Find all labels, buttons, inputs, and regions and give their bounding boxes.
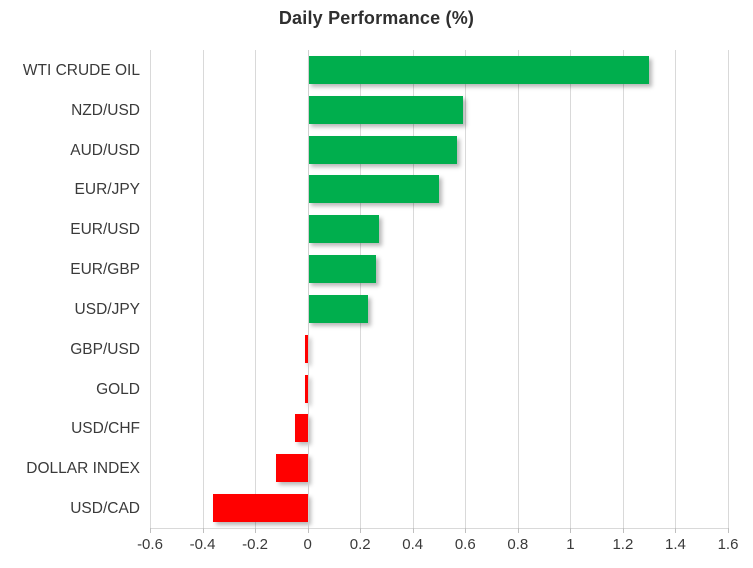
x-tick-mark <box>728 528 729 533</box>
gridline <box>728 50 729 528</box>
x-tick-label: 0.4 <box>383 536 443 553</box>
bar <box>308 295 368 323</box>
x-tick-label: 1.6 <box>698 536 753 553</box>
daily-performance-chart: Daily Performance (%) WTI CRUDE OILNZD/U… <box>0 0 753 568</box>
bar <box>308 136 458 164</box>
y-axis-label: NZD/USD <box>0 102 140 120</box>
bar <box>308 175 439 203</box>
x-tick-mark <box>413 528 414 533</box>
y-axis-label: USD/JPY <box>0 301 140 319</box>
x-tick-label: -0.4 <box>173 536 233 553</box>
gridline <box>255 50 256 528</box>
bar <box>308 96 463 124</box>
x-tick-label: 0 <box>278 536 338 553</box>
x-tick-label: 0.2 <box>330 536 390 553</box>
bar <box>213 494 308 522</box>
y-axis-label: GOLD <box>0 381 140 399</box>
x-tick-label: 1.2 <box>593 536 653 553</box>
x-tick-label: 1.4 <box>645 536 705 553</box>
x-axis-line <box>150 528 728 529</box>
x-tick-label: 0.6 <box>435 536 495 553</box>
y-axis-label: WTI CRUDE OIL <box>0 62 140 80</box>
x-tick-mark <box>675 528 676 533</box>
x-tick-label: -0.6 <box>120 536 180 553</box>
gridline <box>675 50 676 528</box>
gridline <box>518 50 519 528</box>
gridline <box>465 50 466 528</box>
bar <box>308 56 650 84</box>
x-tick-mark <box>465 528 466 533</box>
chart-title: Daily Performance (%) <box>0 8 753 29</box>
y-axis-label: AUD/USD <box>0 142 140 160</box>
y-axis-label: GBP/USD <box>0 341 140 359</box>
zero-gridline <box>308 50 309 528</box>
plot-area <box>150 50 728 528</box>
x-tick-mark <box>203 528 204 533</box>
x-tick-mark <box>518 528 519 533</box>
x-tick-mark <box>308 528 309 533</box>
x-tick-mark <box>623 528 624 533</box>
x-tick-label: -0.2 <box>225 536 285 553</box>
bar <box>276 454 308 482</box>
bar <box>295 414 308 442</box>
y-axis-label: EUR/USD <box>0 221 140 239</box>
gridline <box>570 50 571 528</box>
gridline <box>150 50 151 528</box>
y-axis-label: USD/CAD <box>0 500 140 518</box>
y-axis-label: EUR/JPY <box>0 181 140 199</box>
y-axis-label: DOLLAR INDEX <box>0 460 140 478</box>
gridline <box>203 50 204 528</box>
x-tick-mark <box>360 528 361 533</box>
x-tick-mark <box>255 528 256 533</box>
gridline <box>623 50 624 528</box>
bar <box>308 215 379 243</box>
bar <box>308 255 376 283</box>
y-axis-label: USD/CHF <box>0 420 140 438</box>
x-tick-mark <box>570 528 571 533</box>
y-axis-label: EUR/GBP <box>0 261 140 279</box>
x-tick-label: 0.8 <box>488 536 548 553</box>
x-tick-mark <box>150 528 151 533</box>
x-tick-label: 1 <box>540 536 600 553</box>
